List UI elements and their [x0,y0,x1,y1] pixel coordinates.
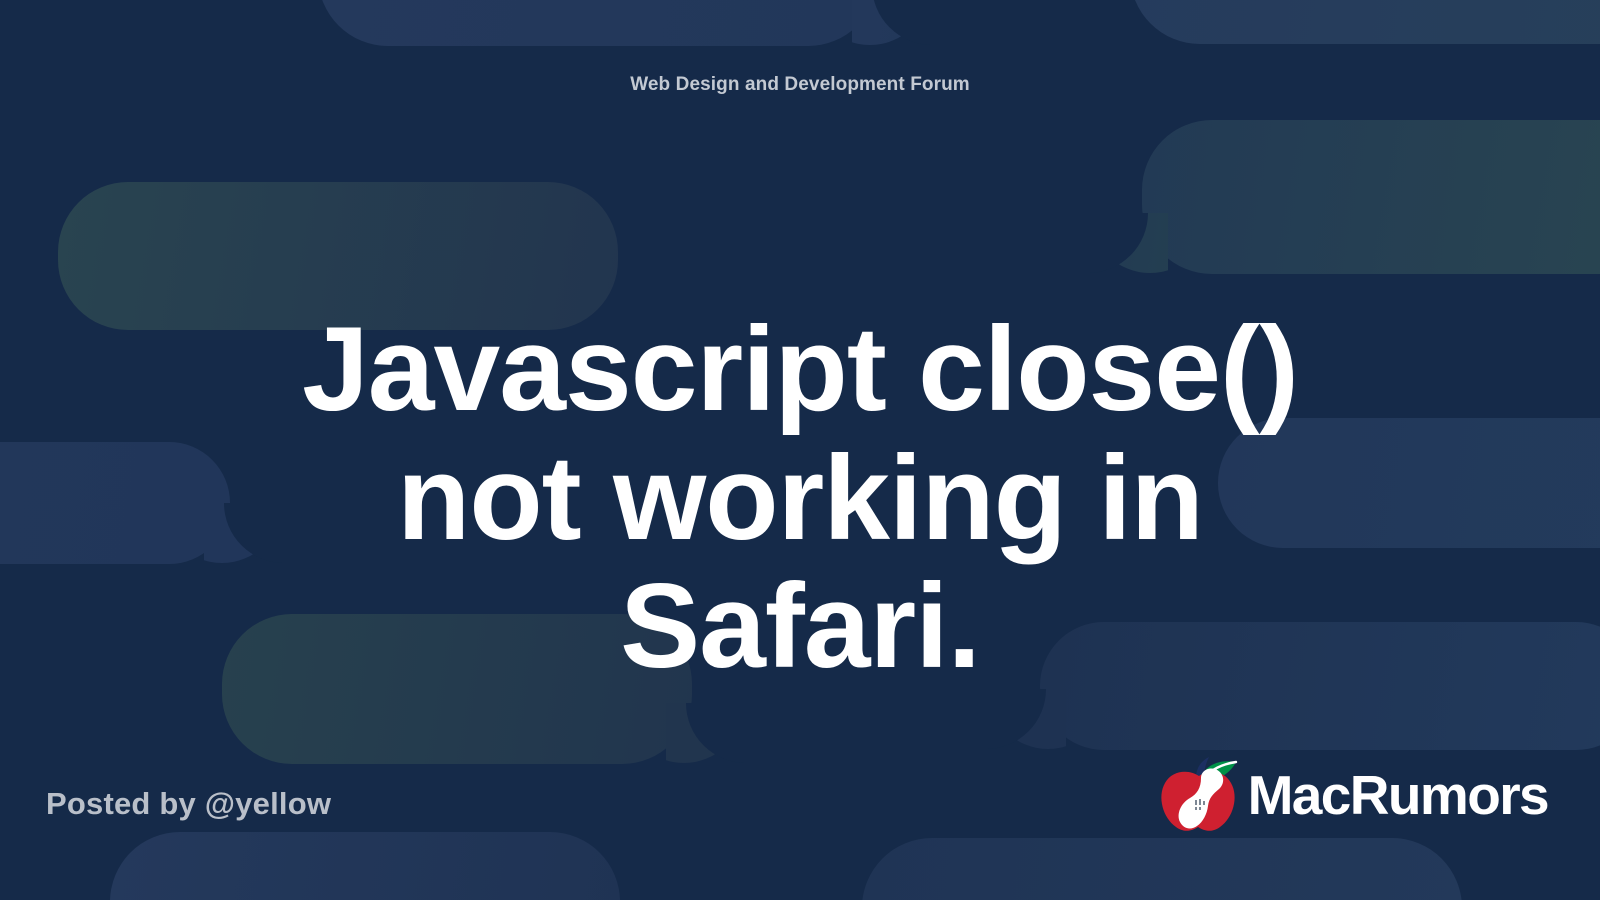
social-share-card: Web Design and Development Forum Javascr… [0,0,1600,900]
bubble-tail [666,703,744,765]
bubble-upper-right [1142,120,1600,274]
macrumors-apple-logo-icon [1156,756,1242,834]
bubble-tail [1090,213,1168,275]
bubble-top-left [318,0,878,46]
bubble-top-right [1130,0,1600,44]
post-title-line: Safari. [120,562,1480,690]
macrumors-wordmark: MacRumors [1248,768,1548,823]
bubble-bottom-right [862,838,1462,900]
posted-by-label: Posted by @yellow [46,786,331,822]
post-title-line: not working in [120,434,1480,562]
bubble-tail [852,0,930,47]
post-title: Javascript close() not working in Safari… [120,305,1480,690]
bubble-tail [988,689,1066,751]
bubble-bottom-left [110,832,620,900]
forum-name: Web Design and Development Forum [0,74,1600,96]
macrumors-brand-lockup: MacRumors [1156,756,1548,834]
post-title-line: Javascript close() [120,305,1480,433]
